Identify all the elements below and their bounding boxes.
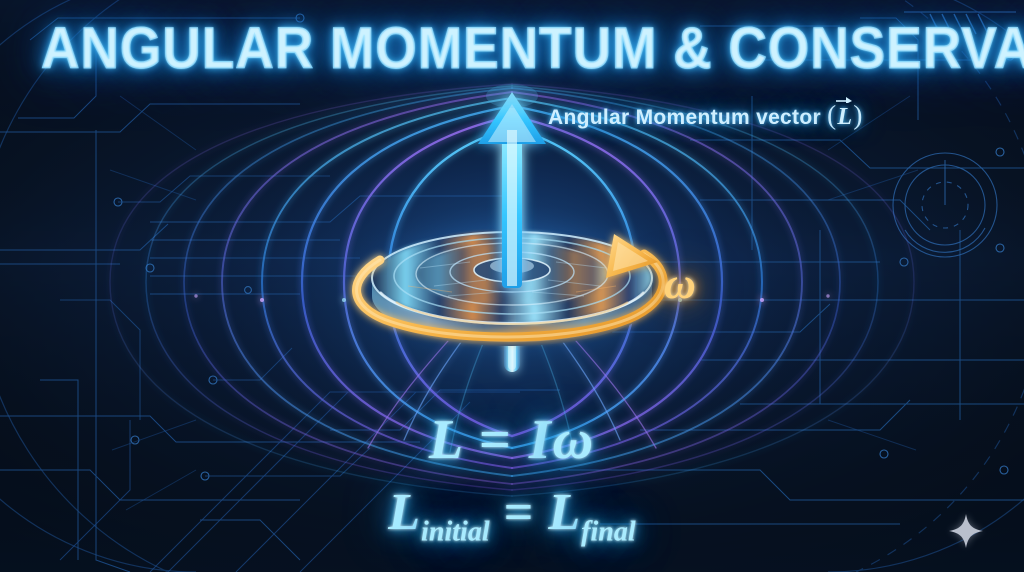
hud-dial xyxy=(893,153,997,257)
formula-primary: L = Iω xyxy=(0,408,1024,472)
rotation-axis-shaft-lower xyxy=(504,290,520,372)
formula-conservation-operator: = xyxy=(504,484,535,541)
page-title: ANGULAR MOMENTUM & CONSERVATION xyxy=(41,20,983,78)
rotation-axis-shaft-upper xyxy=(503,150,521,280)
formula-conservation-rhs: L xyxy=(548,484,581,541)
sparkle-icon xyxy=(947,512,985,550)
vector-label-close-paren: ) xyxy=(853,100,862,130)
vector-label-text: Angular Momentum vector xyxy=(548,106,821,129)
angular-velocity-symbol: ω xyxy=(664,258,696,309)
formula-primary-operator: = xyxy=(479,409,513,471)
vector-arrow-icon xyxy=(835,95,853,103)
formula-primary-lhs: L xyxy=(429,409,463,471)
vector-label: Angular Momentum vector (L) xyxy=(548,100,863,131)
page-title-text: ANGULAR MOMENTUM & CONSERVATION xyxy=(41,16,1024,81)
spinning-disk xyxy=(372,232,652,346)
formula-conservation-rhs-subscript: final xyxy=(581,516,636,547)
vector-label-symbol: L xyxy=(837,104,852,130)
vector-label-open-paren: ( xyxy=(827,100,836,130)
infographic-canvas: ANGULAR MOMENTUM & CONSERVATION Angular … xyxy=(0,0,1024,572)
formula-conservation: Linitial = Lfinal xyxy=(0,483,1024,548)
formula-primary-inertia: I xyxy=(529,409,553,471)
formula-conservation-lhs: L xyxy=(388,484,421,541)
formula-conservation-lhs-subscript: initial xyxy=(421,516,490,547)
formula-primary-omega: ω xyxy=(553,409,596,471)
